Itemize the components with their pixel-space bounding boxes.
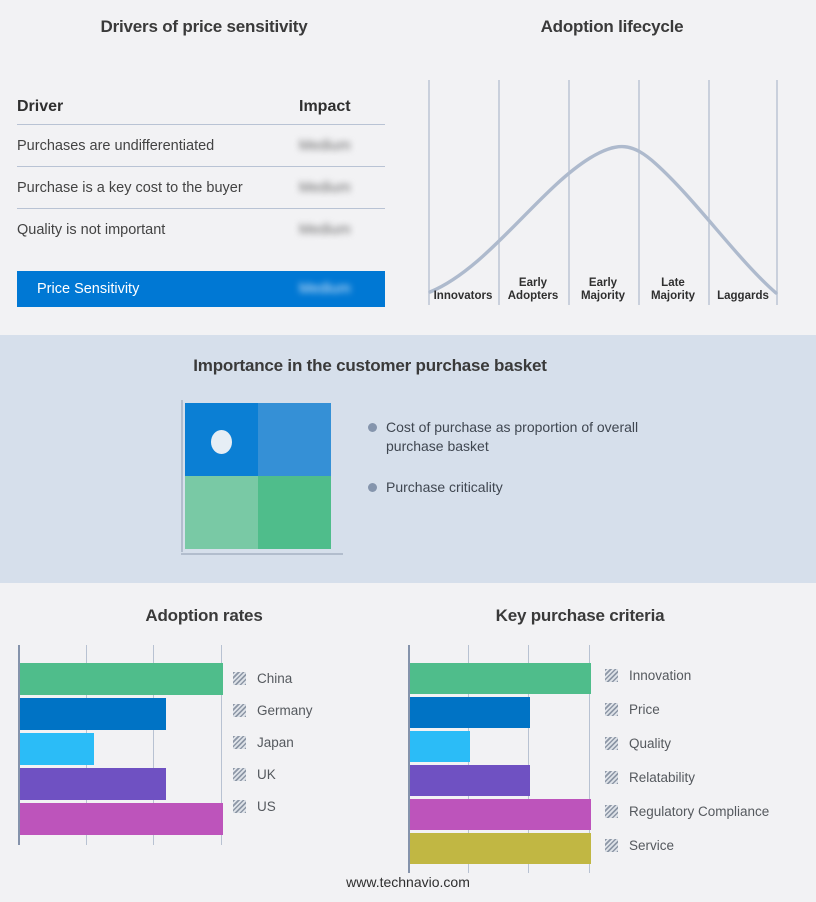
bar-uk — [20, 768, 166, 800]
legend-label: US — [257, 799, 276, 814]
basket-legend-label: Cost of purchase as proportion of overal… — [386, 418, 654, 456]
bar-price — [410, 697, 530, 728]
lifecycle-panel-title: Adoption lifecycle — [408, 17, 816, 37]
impact-value: Medium — [299, 138, 385, 154]
bar-japan — [20, 733, 94, 765]
bar-us — [20, 803, 223, 835]
price-sensitivity-impact-text: Medium — [299, 281, 351, 297]
legend-label: Price — [629, 702, 660, 717]
lifecycle-stage-late-majority: Late Majority — [638, 272, 708, 304]
quadrant-bottom-right — [258, 476, 331, 549]
legend-item-uk: UK — [233, 758, 313, 790]
list-item: Purchase criticality — [368, 478, 668, 497]
lifecycle-stage-label: Late Majority — [651, 277, 695, 303]
legend-label: Germany — [257, 703, 313, 718]
purchase-criteria-legend: Innovation Price Quality Relatability Re… — [605, 658, 769, 862]
lifecycle-stage-label: Laggards — [717, 290, 769, 303]
legend-label: Regulatory Compliance — [629, 804, 769, 819]
adoption-rates-panel-title: Adoption rates — [0, 606, 408, 626]
lifecycle-stage-label: Innovators — [434, 290, 493, 303]
lifecycle-stage-innovators: Innovators — [428, 272, 498, 304]
bar-germany — [20, 698, 166, 730]
adoption-rates-bar-chart — [18, 645, 223, 845]
basket-legend: Cost of purchase as proportion of overal… — [368, 418, 668, 519]
legend-item-us: US — [233, 790, 313, 822]
purchase-basket-quadrant-chart — [185, 403, 331, 549]
quadrant-top-right — [258, 403, 331, 476]
hatch-swatch-icon — [605, 805, 618, 818]
hatch-swatch-icon — [605, 737, 618, 750]
legend-item-regulatory-compliance: Regulatory Compliance — [605, 794, 769, 828]
basket-legend-label: Purchase criticality — [386, 478, 503, 497]
bar-china — [20, 663, 223, 695]
drivers-table: Driver Impact Purchases are undifferenti… — [17, 90, 385, 250]
quadrant-marker-dot — [211, 430, 232, 454]
legend-item-innovation: Innovation — [605, 658, 769, 692]
quadrant-bottom-left — [185, 476, 258, 549]
table-row: Purchases are undifferentiated Medium — [17, 125, 385, 167]
driver-label: Quality is not important — [17, 222, 299, 238]
table-row: Quality is not important Medium — [17, 209, 385, 250]
infographic-page: Drivers of price sensitivity Driver Impa… — [0, 0, 816, 902]
legend-label: Japan — [257, 735, 294, 750]
driver-label: Purchases are undifferentiated — [17, 138, 299, 154]
hatch-swatch-icon — [605, 703, 618, 716]
bullet-icon — [368, 423, 377, 432]
impact-value-text: Medium — [299, 222, 351, 238]
lifecycle-stage-label: Early Majority — [581, 277, 625, 303]
quadrant-chart-y-axis — [181, 400, 183, 552]
impact-value-text: Medium — [299, 180, 351, 196]
legend-item-china: China — [233, 662, 313, 694]
legend-item-relatability: Relatability — [605, 760, 769, 794]
legend-label: China — [257, 671, 292, 686]
legend-item-japan: Japan — [233, 726, 313, 758]
bar-innovation — [410, 663, 591, 694]
hatch-swatch-icon — [233, 736, 246, 749]
price-sensitivity-impact: Medium — [299, 281, 385, 297]
bar-relatability — [410, 765, 530, 796]
legend-label: UK — [257, 767, 276, 782]
hatch-swatch-icon — [233, 672, 246, 685]
drivers-table-header: Driver Impact — [17, 90, 385, 125]
column-header-impact: Impact — [299, 98, 385, 116]
driver-label: Purchase is a key cost to the buyer — [17, 180, 299, 196]
hatch-swatch-icon — [605, 771, 618, 784]
impact-value-text: Medium — [299, 138, 351, 154]
lifecycle-stage-label: Early Adopters — [508, 277, 558, 303]
impact-value: Medium — [299, 180, 385, 196]
legend-item-price: Price — [605, 692, 769, 726]
quadrant-chart-x-axis — [181, 553, 343, 555]
legend-item-germany: Germany — [233, 694, 313, 726]
bullet-icon — [368, 483, 377, 492]
adoption-rates-legend: China Germany Japan UK US — [233, 662, 313, 822]
legend-label: Service — [629, 838, 674, 853]
lifecycle-stage-labels: Innovators Early Adopters Early Majority… — [428, 272, 778, 304]
lifecycle-stage-early-majority: Early Majority — [568, 272, 638, 304]
purchase-criteria-bar-chart — [408, 645, 590, 873]
bar-quality — [410, 731, 470, 762]
legend-item-quality: Quality — [605, 726, 769, 760]
list-item: Cost of purchase as proportion of overal… — [368, 418, 668, 456]
hatch-swatch-icon — [605, 669, 618, 682]
hatch-swatch-icon — [605, 839, 618, 852]
price-sensitivity-highlight-row: Price Sensitivity Medium — [17, 271, 385, 307]
drivers-panel-title: Drivers of price sensitivity — [0, 17, 408, 37]
table-row: Purchase is a key cost to the buyer Medi… — [17, 167, 385, 209]
legend-label: Innovation — [629, 668, 691, 683]
basket-panel-title: Importance in the customer purchase bask… — [0, 356, 740, 376]
legend-label: Relatability — [629, 770, 695, 785]
legend-item-service: Service — [605, 828, 769, 862]
lifecycle-stage-laggards: Laggards — [708, 272, 778, 304]
hatch-swatch-icon — [233, 800, 246, 813]
column-header-driver: Driver — [17, 98, 299, 116]
footer-url: www.technavio.com — [0, 874, 816, 890]
legend-label: Quality — [629, 736, 671, 751]
hatch-swatch-icon — [233, 704, 246, 717]
hatch-swatch-icon — [233, 768, 246, 781]
lifecycle-stage-early-adopters: Early Adopters — [498, 272, 568, 304]
bar-regulatory-compliance — [410, 799, 591, 830]
bar-service — [410, 833, 591, 864]
price-sensitivity-label: Price Sensitivity — [17, 281, 299, 297]
impact-value: Medium — [299, 222, 385, 238]
purchase-criteria-panel-title: Key purchase criteria — [400, 606, 760, 626]
